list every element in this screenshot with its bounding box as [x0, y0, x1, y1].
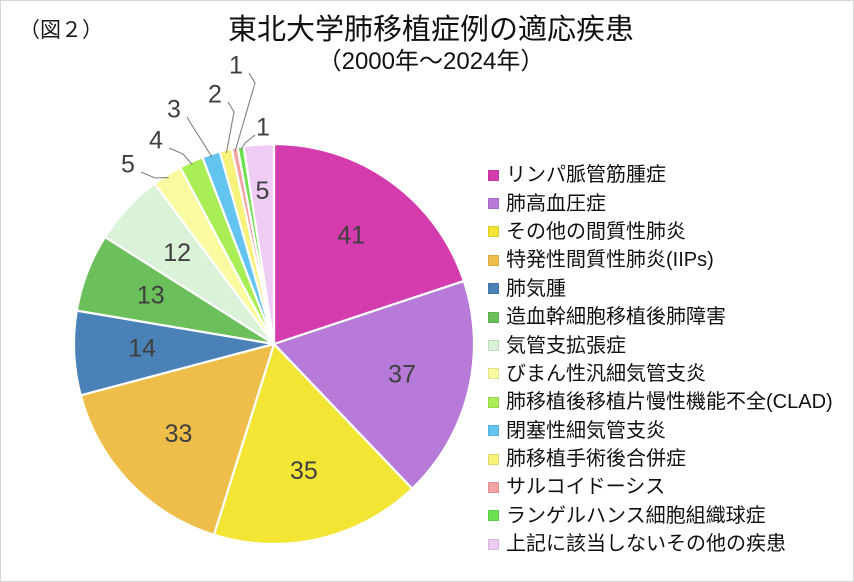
legend-item-label: 肺移植手術後合併症	[506, 449, 686, 469]
legend-item-label: その他の間質性肺炎	[506, 222, 686, 242]
pie-callout-label-7: 5	[121, 151, 135, 179]
pie-value-label-3: 33	[165, 420, 193, 448]
legend-item-label: 特発性間質性肺炎(IIPs)	[506, 250, 714, 270]
pie-callout-label-9: 3	[167, 96, 181, 124]
legend-item-10[interactable]: 肺移植手術後合併症	[488, 445, 854, 473]
legend-swatch-icon	[488, 454, 499, 465]
pie-svg: 413735331413125543211	[1, 1, 491, 582]
pie-callout-label-8: 4	[149, 127, 163, 155]
pie-callout-label-11: 1	[229, 52, 243, 80]
pie-value-label-4: 14	[128, 335, 156, 363]
legend-swatch-icon	[488, 170, 499, 181]
pie-value-label-13: 5	[255, 177, 269, 205]
leader-line-9	[187, 117, 212, 157]
legend-swatch-icon	[488, 368, 499, 379]
chart-frame: （図２） 東北大学肺移植症例の適応疾患 （2000年～2024年） 413735…	[0, 0, 854, 582]
legend-swatch-icon	[488, 226, 499, 237]
legend-item-5[interactable]: 造血幹細胞移植後肺障害	[488, 303, 854, 331]
legend-item-label: サルコイドーシス	[506, 477, 665, 497]
legend-item-2[interactable]: その他の間質性肺炎	[488, 218, 854, 246]
legend-item-label: ランゲルハンス細胞組織球症	[506, 506, 766, 526]
legend-swatch-icon	[488, 255, 499, 266]
pie-value-label-1: 37	[388, 360, 416, 388]
leader-line-11	[235, 73, 255, 151]
legend-item-label: 閉塞性細気管支炎	[506, 421, 666, 441]
legend-item-label: 気管支拡張症	[506, 336, 626, 356]
legend-item-7[interactable]: びまん性汎細気管支炎	[488, 360, 854, 388]
legend-item-4[interactable]: 肺気腫	[488, 275, 854, 303]
legend-item-0[interactable]: リンパ脈管筋腫症	[488, 161, 854, 189]
legend-item-12[interactable]: ランゲルハンス細胞組織球症	[488, 502, 854, 530]
legend-swatch-icon	[488, 397, 499, 408]
legend-item-label: 肺高血圧症	[506, 194, 606, 214]
legend-swatch-icon	[488, 198, 499, 209]
leader-line-10	[226, 102, 234, 153]
legend-swatch-icon	[488, 510, 499, 521]
pie-value-label-5: 13	[137, 281, 165, 309]
legend-item-8[interactable]: 肺移植後移植片慢性機能不全(CLAD)	[488, 388, 854, 416]
legend-swatch-icon	[488, 283, 499, 294]
legend-swatch-icon	[488, 340, 499, 351]
legend-item-9[interactable]: 閉塞性細気管支炎	[488, 417, 854, 445]
legend-item-label: リンパ脈管筋腫症	[506, 165, 666, 185]
legend-item-label: びまん性汎細気管支炎	[506, 364, 706, 384]
pie-callout-label-12: 1	[256, 114, 270, 142]
legend-swatch-icon	[488, 425, 499, 436]
legend-swatch-icon	[488, 312, 499, 323]
legend-item-3[interactable]: 特発性間質性肺炎(IIPs)	[488, 246, 854, 274]
pie-value-label-0: 41	[337, 222, 365, 250]
legend-item-label: 肺気腫	[506, 279, 566, 299]
legend-item-label: 肺移植後移植片慢性機能不全(CLAD)	[506, 392, 833, 412]
legend-swatch-icon	[488, 482, 499, 493]
pie-callout-label-10: 2	[208, 81, 222, 109]
pie-chart: 413735331413125543211	[1, 1, 491, 582]
legend-item-6[interactable]: 気管支拡張症	[488, 331, 854, 359]
legend-item-label: 造血幹細胞移植後肺障害	[506, 307, 726, 327]
legend-item-11[interactable]: サルコイドーシス	[488, 473, 854, 501]
pie-value-label-2: 35	[290, 457, 318, 485]
legend-item-1[interactable]: 肺高血圧症	[488, 189, 854, 217]
legend-item-label: 上記に該当しないその他の疾患	[506, 534, 786, 554]
legend-swatch-icon	[488, 539, 499, 550]
chart-legend: リンパ脈管筋腫症肺高血圧症その他の間質性肺炎特発性間質性肺炎(IIPs)肺気腫造…	[488, 161, 854, 558]
pie-value-label-6: 12	[163, 239, 191, 267]
legend-item-13[interactable]: 上記に該当しないその他の疾患	[488, 530, 854, 558]
